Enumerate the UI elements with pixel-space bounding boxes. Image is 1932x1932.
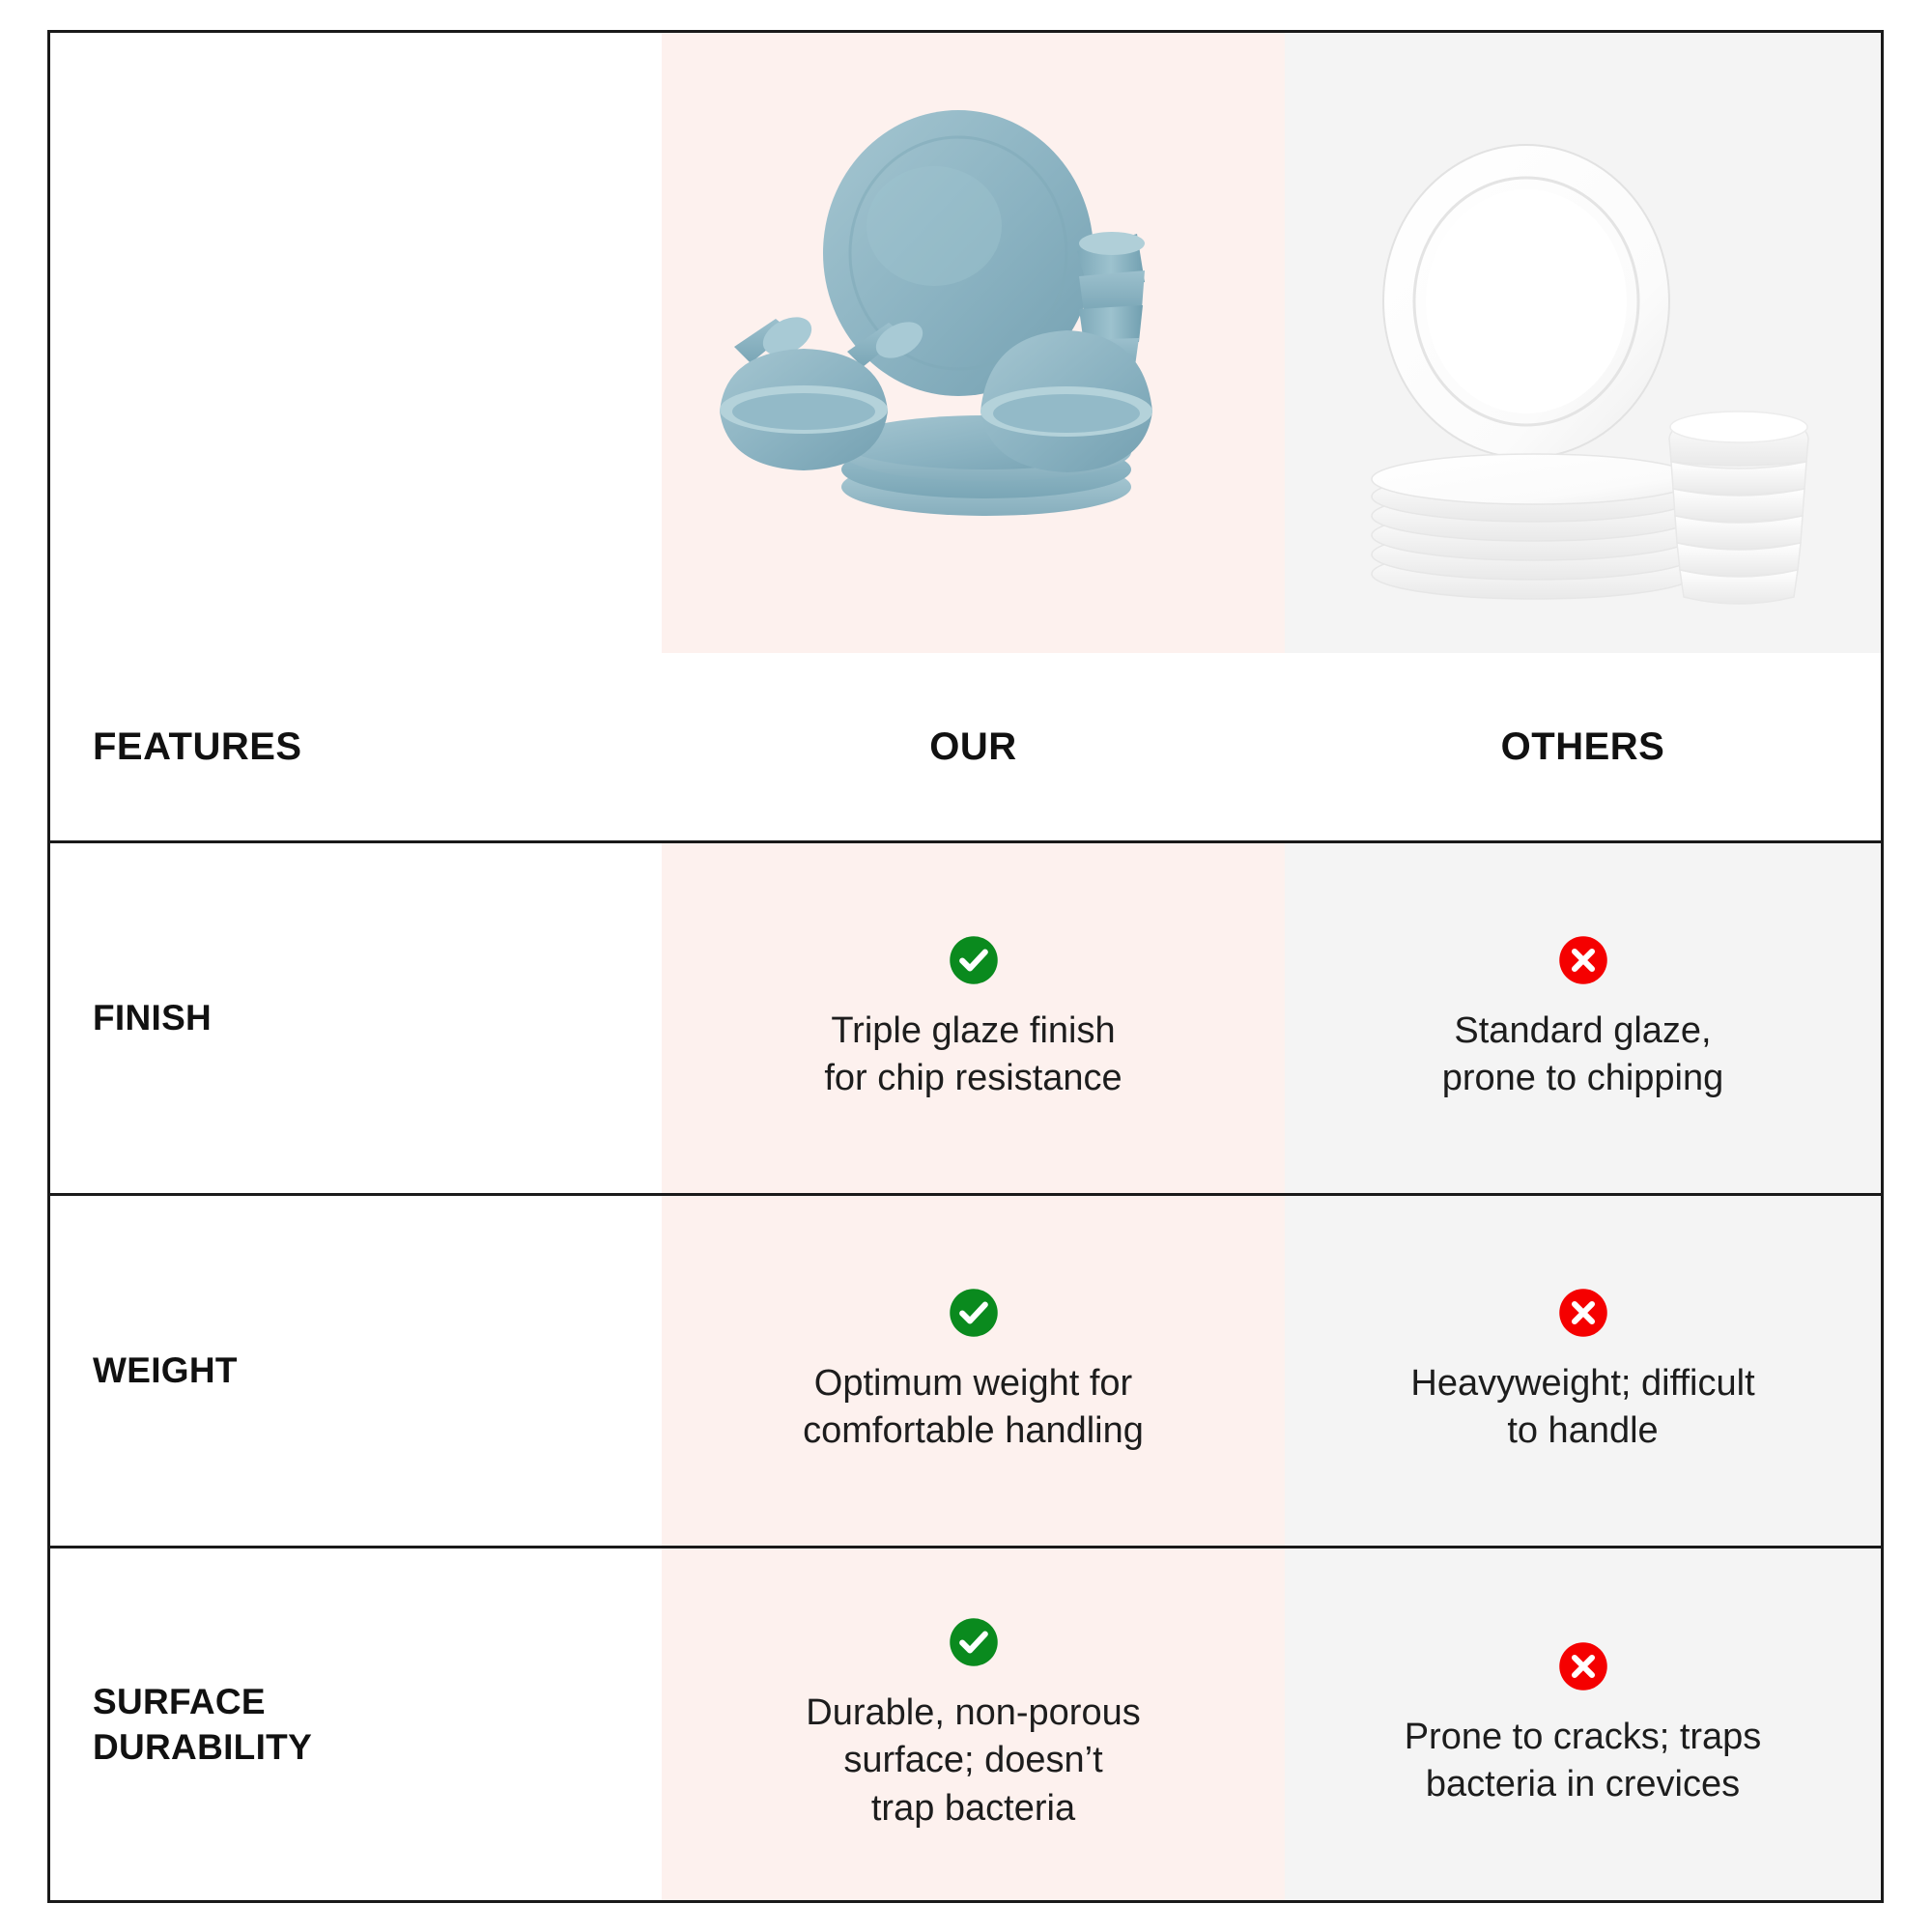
- our-cell: Optimum weight for comfortable handling: [662, 1196, 1285, 1546]
- media-cell-others: [1285, 33, 1881, 653]
- feature-label: WEIGHT: [93, 1348, 238, 1393]
- feature-cell: WEIGHT: [50, 1196, 662, 1546]
- table-header-row: FEATURES OUR OTHERS: [50, 653, 1881, 843]
- product-image-band: [50, 33, 1881, 653]
- media-cell-features: [50, 33, 662, 653]
- cross-circle-icon: [1557, 1287, 1609, 1339]
- check-circle-icon: [948, 1616, 1000, 1668]
- table-row: FINISH Triple glaze finish for chip resi…: [50, 843, 1881, 1196]
- others-value-text: Heavyweight; difficult to handle: [1410, 1360, 1754, 1456]
- others-cell: Heavyweight; difficult to handle: [1285, 1196, 1881, 1546]
- cross-circle-icon: [1557, 1640, 1609, 1692]
- others-value-text: Prone to cracks; traps bacteria in crevi…: [1405, 1714, 1762, 1809]
- column-header-features: FEATURES: [50, 653, 662, 840]
- comparison-graphic: FEATURES OUR OTHERS FINISH Triple glaze …: [0, 0, 1932, 1932]
- our-value-text: Durable, non-porous surface; doesn’t tra…: [806, 1690, 1140, 1833]
- our-value-text: Optimum weight for comfortable handling: [803, 1360, 1144, 1456]
- others-value-text: Standard glaze, prone to chipping: [1442, 1008, 1724, 1103]
- check-circle-icon: [948, 1287, 1000, 1339]
- table-row: WEIGHT Optimum weight for comfortable ha…: [50, 1196, 1881, 1548]
- feature-cell: FINISH: [50, 843, 662, 1193]
- others-cell: Prone to cracks; traps bacteria in crevi…: [1285, 1548, 1881, 1900]
- column-header-our: OUR: [662, 653, 1285, 840]
- check-circle-icon: [948, 934, 1000, 986]
- our-product-image: [662, 33, 1285, 653]
- table-row: SURFACE DURABILITY Durable, non-porous s…: [50, 1548, 1881, 1900]
- our-cell: Triple glaze finish for chip resistance: [662, 843, 1285, 1193]
- others-cell: Standard glaze, prone to chipping: [1285, 843, 1881, 1193]
- comparison-table: FEATURES OUR OTHERS FINISH Triple glaze …: [47, 30, 1884, 1903]
- feature-cell: SURFACE DURABILITY: [50, 1548, 662, 1900]
- others-product-image: [1285, 33, 1881, 653]
- column-header-others: OTHERS: [1285, 653, 1881, 840]
- our-value-text: Triple glaze finish for chip resistance: [824, 1008, 1122, 1103]
- feature-label: SURFACE DURABILITY: [93, 1679, 312, 1771]
- media-cell-our: [662, 33, 1285, 653]
- cross-circle-icon: [1557, 934, 1609, 986]
- feature-label: FINISH: [93, 995, 212, 1040]
- our-cell: Durable, non-porous surface; doesn’t tra…: [662, 1548, 1285, 1900]
